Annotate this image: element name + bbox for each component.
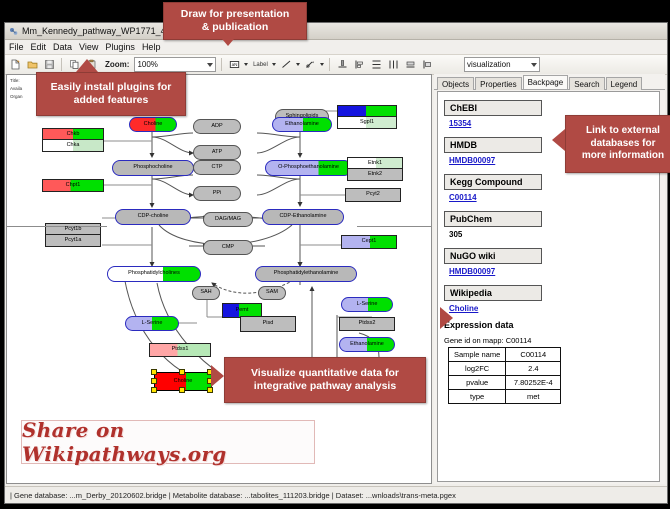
node-adp[interactable]: ADP: [193, 119, 241, 134]
line-icon[interactable]: [279, 58, 293, 72]
callout-links-pointer: [552, 129, 565, 151]
section-header-wikipedia: Wikipedia: [444, 285, 542, 301]
tab-backpage[interactable]: Backpage: [523, 75, 569, 89]
cell-log2fc-value: 2.4: [506, 362, 561, 376]
node-cdp-choline[interactable]: CDP-choline: [115, 209, 191, 225]
callout-visualize-pointer-right: [412, 365, 425, 387]
label-dropdown-icon[interactable]: [272, 63, 276, 66]
node-phosphocholine[interactable]: Phosphocholine: [112, 160, 194, 176]
node-phosphatidylethanolamine[interactable]: Phosphatidylethanolamine: [255, 266, 357, 282]
share-banner: Share on Wikipathways.org: [21, 420, 315, 464]
link-kegg[interactable]: C00114: [449, 193, 655, 202]
table-row: log2FC 2.4: [449, 362, 561, 376]
interaction-dropdown-icon[interactable]: [320, 63, 324, 66]
align-left-icon[interactable]: [352, 58, 366, 72]
node-cmp[interactable]: CMP: [203, 240, 253, 255]
menu-item-plugins[interactable]: Plugins: [105, 42, 135, 52]
region-rule-left: [7, 226, 107, 227]
node-l-serine-left[interactable]: L-Serine: [125, 316, 179, 331]
menu-item-file[interactable]: File: [9, 42, 24, 52]
order-icon[interactable]: [420, 58, 434, 72]
node-phosphatidylcholines[interactable]: Phosphatidylcholines: [107, 266, 201, 282]
callout-links: Link to external databases for more info…: [565, 115, 670, 173]
node-o-phosphoethanolamine[interactable]: O-Phosphoethanolamine: [265, 160, 352, 176]
label-icon[interactable]: Label: [251, 58, 269, 72]
node-chka[interactable]: Chka: [42, 139, 104, 152]
node-cept1[interactable]: Cept1: [341, 235, 397, 249]
menu-item-edit[interactable]: Edit: [31, 42, 47, 52]
link-wikipedia[interactable]: Choline: [449, 304, 655, 313]
tab-properties[interactable]: Properties: [475, 77, 521, 90]
open-folder-icon[interactable]: [25, 58, 39, 72]
node-ptdss1[interactable]: Ptdss1: [149, 343, 211, 357]
callout-draw-line1: Draw for presentation: [181, 8, 290, 21]
section-header-pubchem: PubChem: [444, 211, 542, 227]
node-pisd[interactable]: Pisd: [240, 316, 296, 332]
callout-links-line1: Link to external: [586, 125, 660, 138]
visualization-combo[interactable]: visualization: [464, 57, 540, 72]
node-etnk2[interactable]: Etnk2: [347, 168, 403, 181]
section-header-kegg: Kegg Compound: [444, 174, 542, 190]
node-cdp-ethanolamine[interactable]: CDP-Ethanolamine: [262, 209, 344, 225]
stack-icon[interactable]: [403, 58, 417, 72]
selection-handle-s[interactable]: [179, 387, 185, 393]
status-bar: | Gene database: ...m_Derby_20120602.bri…: [5, 486, 667, 503]
cell-type-key: type: [449, 390, 506, 404]
distribute-vertical-icon[interactable]: [369, 58, 383, 72]
cell-pvalue-value: 7.80252E-4: [506, 376, 561, 390]
status-bar-text: | Gene database: ...m_Derby_20120602.bri…: [10, 491, 456, 500]
line-dropdown-icon[interactable]: [296, 63, 300, 66]
selection-handle-nw[interactable]: [151, 369, 157, 375]
selection-handle-w[interactable]: [151, 378, 157, 384]
selection-handle-n[interactable]: [179, 369, 185, 375]
tab-legend[interactable]: Legend: [606, 77, 643, 90]
chevron-down-icon-2[interactable]: [531, 63, 537, 67]
node-sam[interactable]: SAM: [258, 286, 286, 300]
cell-sample-name-key: Sample name: [449, 348, 506, 362]
node-l-serine-right[interactable]: L-Serine: [341, 297, 393, 312]
label-button-text: Label: [253, 62, 268, 68]
zoom-value: 100%: [137, 60, 157, 69]
selection-handle-se[interactable]: [207, 387, 213, 393]
section-header-nugo: NuGO wiki: [444, 248, 542, 264]
callout-visualize-line2: integrative pathway analysis: [254, 380, 396, 393]
toolbar-separator-2: [221, 58, 222, 71]
align-bottom-icon[interactable]: [335, 58, 349, 72]
callout-links-line3: more information: [582, 150, 664, 163]
svg-text:aN: aN: [232, 62, 238, 67]
callout-visualize-pointer-extra: [440, 307, 453, 329]
table-row: Sample name C00114: [449, 348, 561, 362]
pathway-canvas[interactable]: Title: Availa Organ: [6, 74, 432, 484]
section-header-chebi: ChEBI: [444, 100, 542, 116]
section-header-hmdb: HMDB: [444, 137, 542, 153]
tab-search[interactable]: Search: [569, 77, 604, 90]
app-icon: [9, 27, 18, 36]
node-pcyt2[interactable]: Pcyt2: [345, 188, 401, 202]
callout-plugins-line2: added features: [74, 94, 149, 107]
zoom-label: Zoom:: [105, 60, 129, 69]
gene-id-line: Gene id on mapp: C00114: [444, 336, 655, 345]
callout-visualize: Visualize quantitative data for integrat…: [224, 357, 426, 403]
new-document-icon[interactable]: [8, 58, 22, 72]
node-ethanolamine-right[interactable]: Ethanolamine: [339, 337, 395, 352]
toolbar-separator-3: [329, 58, 330, 71]
side-panel-tabs[interactable]: Objects Properties Backpage Search Legen…: [434, 74, 665, 90]
datanode-icon[interactable]: aN: [227, 58, 241, 72]
share-banner-text: Share on Wikipathways.org: [22, 418, 314, 466]
table-row: pvalue 7.80252E-4: [449, 376, 561, 390]
screenshot-root: Mm_Kennedy_pathway_WP1771_45176.gpml Fil…: [0, 0, 670, 509]
menu-item-help[interactable]: Help: [142, 42, 161, 52]
table-row: type met: [449, 390, 561, 404]
callout-plugins: Easily install plugins for added feature…: [36, 72, 186, 116]
chevron-down-icon[interactable]: [207, 63, 213, 67]
callout-visualize-pointer-left: [211, 365, 224, 387]
distribute-horizontal-icon[interactable]: [386, 58, 400, 72]
node-sgpl1[interactable]: Sgpl1: [337, 116, 397, 129]
node-chpt1-left[interactable]: Chpt1: [42, 179, 104, 192]
node-sah[interactable]: SAH: [192, 286, 220, 300]
selection-handle-sw[interactable]: [151, 387, 157, 393]
title-bar: Mm_Kennedy_pathway_WP1771_45176.gpml: [5, 23, 667, 40]
save-disk-icon[interactable]: [42, 58, 56, 72]
callout-visualize-line1: Visualize quantitative data for: [251, 367, 399, 380]
node-ctp[interactable]: CTP: [193, 160, 241, 175]
menu-item-data[interactable]: Data: [53, 42, 72, 52]
menu-bar[interactable]: File Edit Data View Plugins Help: [5, 40, 667, 55]
node-atp[interactable]: ATP: [193, 145, 241, 160]
expression-data-title: Expression data: [444, 320, 655, 330]
expression-table: Sample name C00114 log2FC 2.4 pvalue 7.8…: [448, 347, 561, 404]
node-choline-top[interactable]: Choline: [129, 117, 177, 132]
node-dag-mag[interactable]: DAG/MAG: [203, 212, 253, 227]
cell-sample-name-value: C00114: [506, 348, 561, 362]
node-ptdss2[interactable]: Ptdss2: [339, 317, 395, 331]
node-pcyt1a[interactable]: Pcyt1a: [45, 234, 101, 247]
visualization-value: visualization: [467, 60, 511, 69]
datanode-dropdown-icon[interactable]: [244, 63, 248, 66]
interaction-icon[interactable]: [303, 58, 317, 72]
cell-type-value: met: [506, 390, 561, 404]
callout-plugins-line1: Easily install plugins for: [51, 81, 172, 94]
value-pubchem: 305: [449, 230, 655, 239]
toolbar-separator-1: [61, 58, 62, 71]
cell-log2fc-key: log2FC: [449, 362, 506, 376]
callout-links-line2: databases for: [590, 138, 655, 151]
callout-draw-pointer: [217, 33, 239, 46]
menu-item-view[interactable]: View: [79, 42, 98, 52]
tab-objects[interactable]: Objects: [437, 77, 474, 90]
callout-plugins-pointer: [76, 59, 98, 72]
region-rule-right: [357, 226, 431, 227]
link-nugo[interactable]: HMDB00097: [449, 267, 655, 276]
zoom-combo[interactable]: 100%: [134, 57, 216, 72]
cell-pvalue-key: pvalue: [449, 376, 506, 390]
node-ppi[interactable]: PPi: [193, 186, 241, 201]
